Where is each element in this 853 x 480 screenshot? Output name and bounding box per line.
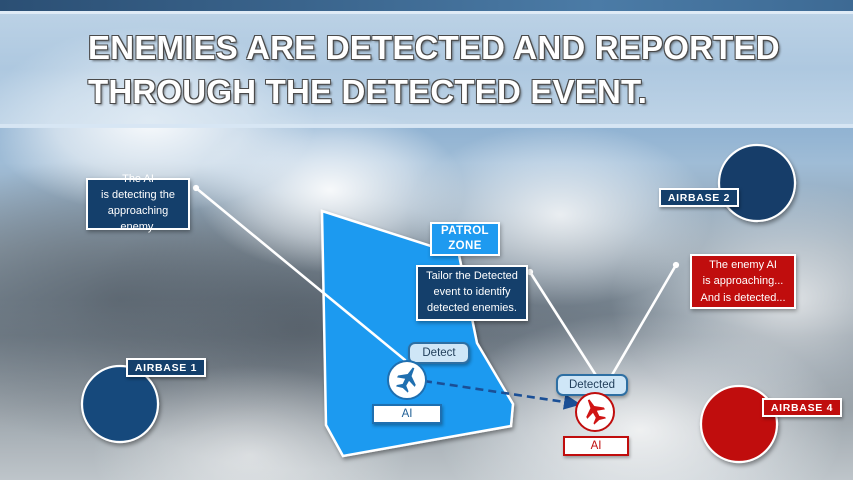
friendly-jet-marker[interactable] (386, 359, 428, 401)
callout-center-tailor-event[interactable]: Tailor the Detected event to identify de… (416, 265, 528, 321)
callout-right-line-3: And is detected... (701, 290, 786, 307)
detected-event-label: Detected (569, 379, 615, 391)
airbase-2-label[interactable]: AIRBASE 2 (659, 188, 739, 207)
fighter-jet-icon (386, 359, 428, 401)
enemy-ai-label-text: AI (591, 440, 602, 452)
friendly-ai-label-text: AI (402, 408, 413, 420)
airbase-2-marker[interactable] (719, 145, 795, 221)
callout-center-line-2: event to identify (433, 285, 510, 301)
leader-line-center-callout (530, 272, 597, 377)
airbase-1-label-text: AIRBASE 1 (135, 362, 197, 374)
airbase-1-label[interactable]: AIRBASE 1 (126, 358, 206, 377)
friendly-ai-label[interactable]: AI (372, 404, 442, 424)
leader-line-right-callout (612, 265, 676, 375)
callout-left-line-2: is detecting the (101, 188, 175, 204)
callout-right-enemy-ai[interactable]: The enemy AI is approaching... And is de… (690, 254, 796, 309)
callout-right-line-1: The enemy AI (709, 257, 777, 274)
airbase-2-label-text: AIRBASE 2 (668, 192, 730, 204)
airbase-4-label[interactable]: AIRBASE 4 (762, 398, 842, 417)
patrol-zone-label-line-2: ZONE (448, 239, 482, 254)
enemy-ai-label[interactable]: AI (563, 436, 629, 456)
enemy-jet-marker[interactable] (574, 391, 616, 433)
callout-center-line-1: Tailor the Detected (426, 269, 518, 285)
patrol-zone-label[interactable]: PATROL ZONE (430, 222, 500, 256)
leader-dot-left (193, 185, 199, 191)
callout-left-line-1: The AI (122, 172, 154, 188)
fighter-jet-icon (574, 391, 616, 433)
slide-canvas: ENEMIES ARE DETECTED AND REPORTED THROUG… (0, 0, 853, 480)
detect-event-label: Detect (422, 347, 455, 359)
callout-right-line-2: is approaching... (703, 273, 784, 290)
leader-dot-right (673, 262, 679, 268)
callout-left-line-3: approaching enemy. (96, 204, 180, 236)
airbase-1-marker[interactable] (82, 366, 158, 442)
callout-left-ai-detecting[interactable]: The AI is detecting the approaching enem… (86, 178, 190, 230)
airbase-4-label-text: AIRBASE 4 (771, 402, 833, 414)
patrol-zone-label-line-1: PATROL (441, 224, 489, 239)
callout-center-line-3: detected enemies. (427, 301, 517, 317)
